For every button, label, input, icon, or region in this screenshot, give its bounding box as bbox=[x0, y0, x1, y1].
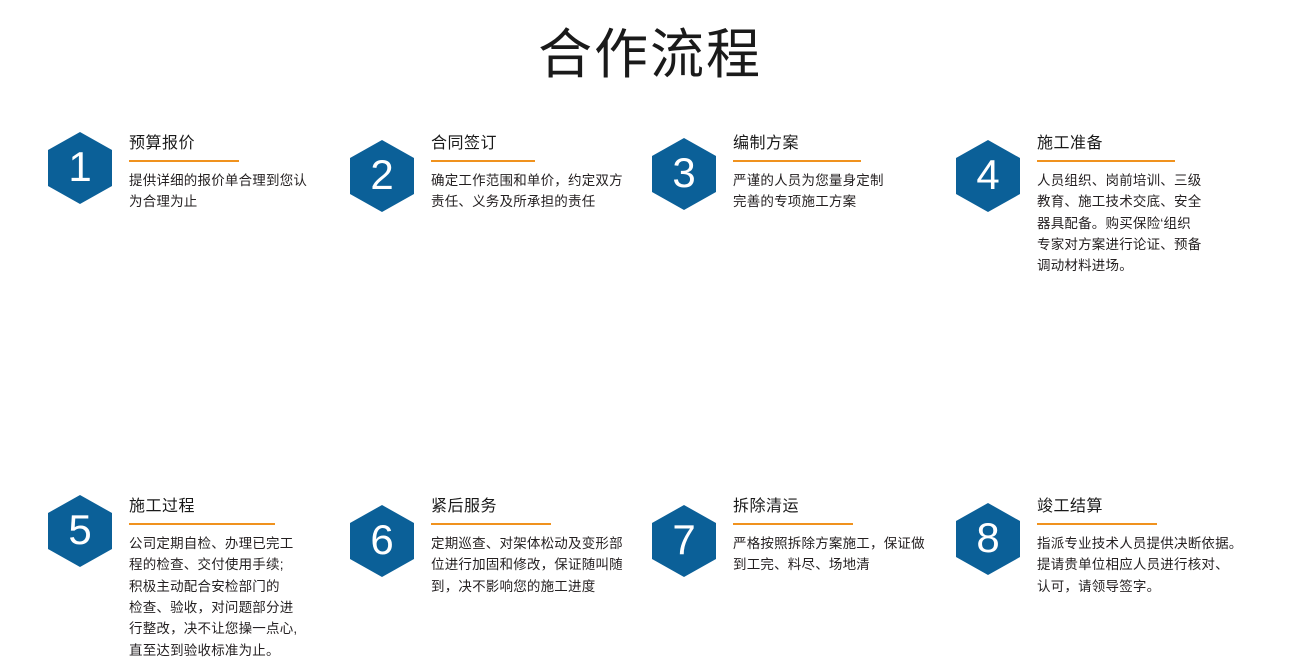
step-description-3: 严谨的人员为您量身定制 完善的专项施工方案 bbox=[733, 170, 918, 213]
step-description-5: 公司定期自检、办理已完工 程的检查、交付使用手续; 积极主动配合安检部门的 检查… bbox=[129, 533, 314, 661]
step-content-1: 预算报价 提供详细的报价单合理到您认 为合理为止 bbox=[129, 132, 314, 213]
step-badge-1: 1 bbox=[48, 132, 112, 204]
step-item-4[interactable]: 4 施工准备 人员组织、岗前培训、三级 教育、施工技术交底、安全 器具配备。购买… bbox=[956, 132, 1222, 277]
step-description-4: 人员组织、岗前培训、三级 教育、施工技术交底、安全 器具配备。购买保险‘组织 专… bbox=[1037, 170, 1222, 277]
step-heading-6: 紧后服务 bbox=[431, 497, 639, 517]
step-heading-8: 竣工结算 bbox=[1037, 497, 1245, 517]
step-heading-2: 合同签订 bbox=[431, 134, 639, 154]
step-content-6: 紧后服务 定期巡查、对架体松动及变形部 位进行加固和修改，保证随叫随 到，决不影… bbox=[431, 495, 639, 597]
step-content-8: 竣工结算 指派专业技术人员提供决断依据。 提请贵单位相应人员进行核对、 认可，请… bbox=[1037, 495, 1245, 597]
step-heading-3: 编制方案 bbox=[733, 134, 918, 154]
step-badge-8: 8 bbox=[956, 503, 1020, 575]
step-number-7: 7 bbox=[652, 505, 716, 577]
step-row-top: 1 预算报价 提供详细的报价单合理到您认 为合理为止 2 合同签订 确定工作范围… bbox=[0, 132, 1300, 312]
step-heading-4: 施工准备 bbox=[1037, 134, 1222, 154]
step-content-3: 编制方案 严谨的人员为您量身定制 完善的专项施工方案 bbox=[733, 132, 918, 213]
heading-underline bbox=[129, 160, 239, 162]
step-description-7: 严格按照拆除方案施工，保证做 到工完、料尽、场地清 bbox=[733, 533, 941, 576]
step-badge-4: 4 bbox=[956, 140, 1020, 212]
heading-underline bbox=[129, 523, 275, 525]
step-badge-6: 6 bbox=[350, 505, 414, 577]
step-number-6: 6 bbox=[350, 505, 414, 577]
step-content-4: 施工准备 人员组织、岗前培训、三级 教育、施工技术交底、安全 器具配备。购买保险… bbox=[1037, 132, 1222, 277]
step-row-bottom: 5 施工过程 公司定期自检、办理已完工 程的检查、交付使用手续; 积极主动配合安… bbox=[0, 312, 1300, 512]
process-steps-grid: 1 预算报价 提供详细的报价单合理到您认 为合理为止 2 合同签订 确定工作范围… bbox=[0, 132, 1300, 512]
step-heading-1: 预算报价 bbox=[129, 134, 314, 154]
step-description-6: 定期巡查、对架体松动及变形部 位进行加固和修改，保证随叫随 到，决不影响您的施工… bbox=[431, 533, 639, 597]
step-item-6[interactable]: 6 紧后服务 定期巡查、对架体松动及变形部 位进行加固和修改，保证随叫随 到，决… bbox=[350, 495, 639, 597]
heading-underline bbox=[431, 523, 551, 525]
page-title: 合作流程 bbox=[0, 24, 1300, 86]
step-description-8: 指派专业技术人员提供决断依据。 提请贵单位相应人员进行核对、 认可，请领导签字。 bbox=[1037, 533, 1245, 597]
step-heading-5: 施工过程 bbox=[129, 497, 314, 517]
heading-underline bbox=[1037, 160, 1175, 162]
heading-underline bbox=[733, 523, 853, 525]
step-number-8: 8 bbox=[956, 503, 1020, 575]
step-content-7: 拆除清运 严格按照拆除方案施工，保证做 到工完、料尽、场地清 bbox=[733, 495, 941, 576]
step-content-5: 施工过程 公司定期自检、办理已完工 程的检查、交付使用手续; 积极主动配合安检部… bbox=[129, 495, 314, 661]
heading-underline bbox=[1037, 523, 1157, 525]
step-content-2: 合同签订 确定工作范围和单价，约定双方 责任、义务及所承担的责任 bbox=[431, 132, 639, 213]
step-item-7[interactable]: 7 拆除清运 严格按照拆除方案施工，保证做 到工完、料尽、场地清 bbox=[652, 495, 941, 577]
step-item-5[interactable]: 5 施工过程 公司定期自检、办理已完工 程的检查、交付使用手续; 积极主动配合安… bbox=[48, 495, 314, 661]
step-number-4: 4 bbox=[956, 140, 1020, 212]
step-heading-7: 拆除清运 bbox=[733, 497, 941, 517]
step-badge-5: 5 bbox=[48, 495, 112, 567]
step-number-3: 3 bbox=[652, 138, 716, 210]
step-item-3[interactable]: 3 编制方案 严谨的人员为您量身定制 完善的专项施工方案 bbox=[652, 132, 918, 213]
heading-underline bbox=[431, 160, 535, 162]
step-description-1: 提供详细的报价单合理到您认 为合理为止 bbox=[129, 170, 314, 213]
step-badge-3: 3 bbox=[652, 138, 716, 210]
step-number-2: 2 bbox=[350, 140, 414, 212]
step-item-2[interactable]: 2 合同签订 确定工作范围和单价，约定双方 责任、义务及所承担的责任 bbox=[350, 132, 639, 213]
step-item-8[interactable]: 8 竣工结算 指派专业技术人员提供决断依据。 提请贵单位相应人员进行核对、 认可… bbox=[956, 495, 1245, 597]
step-item-1[interactable]: 1 预算报价 提供详细的报价单合理到您认 为合理为止 bbox=[48, 132, 314, 213]
heading-underline bbox=[733, 160, 861, 162]
step-badge-7: 7 bbox=[652, 505, 716, 577]
step-number-5: 5 bbox=[48, 495, 112, 567]
step-description-2: 确定工作范围和单价，约定双方 责任、义务及所承担的责任 bbox=[431, 170, 639, 213]
step-number-1: 1 bbox=[48, 132, 112, 204]
step-badge-2: 2 bbox=[350, 140, 414, 212]
